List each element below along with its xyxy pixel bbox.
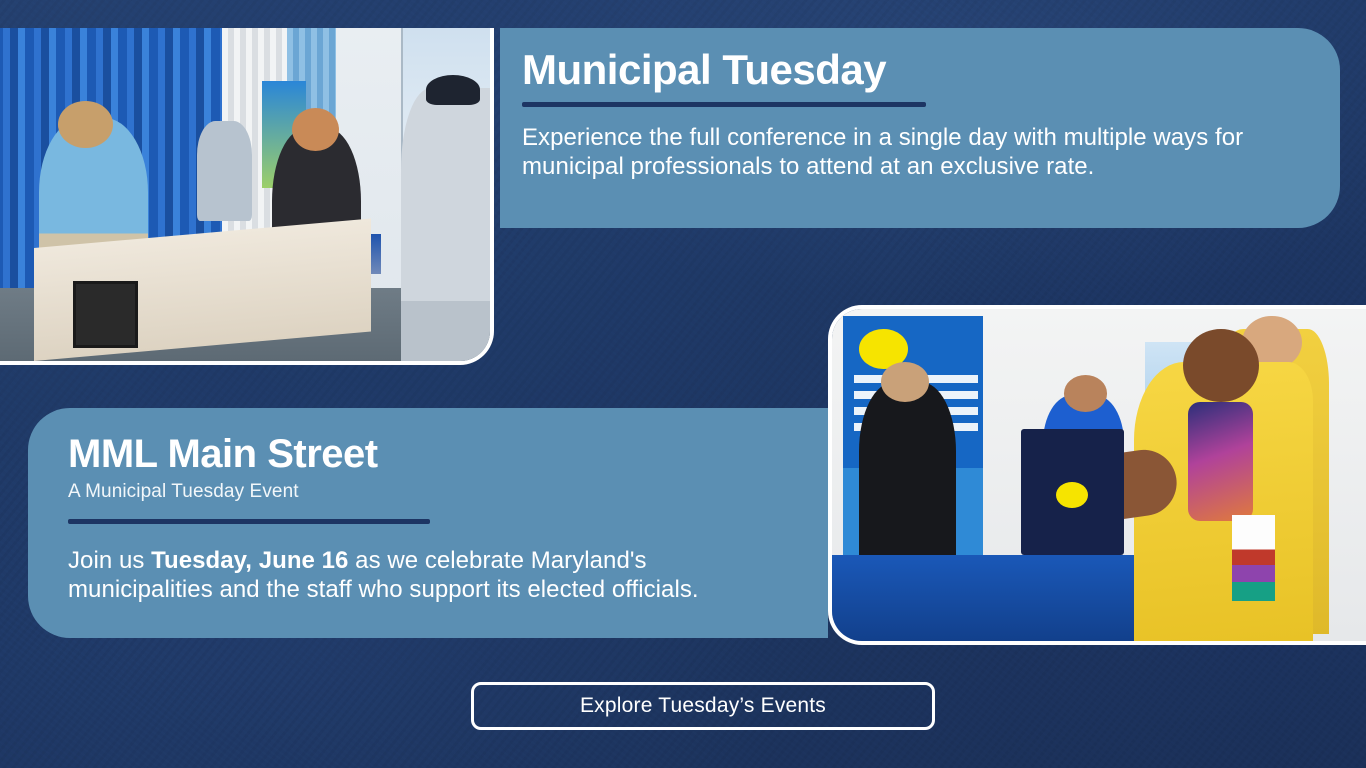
photo-exhibit-booth-left — [0, 28, 494, 365]
promo-top-body: Experience the full conference in a sing… — [522, 123, 1300, 181]
photo-right-person-left — [859, 382, 956, 575]
explore-tuesdays-events-button[interactable]: Explore Tuesday’s Events — [471, 682, 935, 730]
photo-left-person-foreground — [401, 88, 494, 361]
photo-left-person-attendee-head — [292, 108, 339, 151]
promo-bottom-body: Join us Tuesday, June 16 as we celebrate… — [68, 546, 788, 604]
photo-left-person-exhibitor-head — [58, 101, 113, 148]
promo-bottom-body-date: Tuesday, June 16 — [151, 547, 348, 574]
photo-left-baseball-cap — [426, 75, 481, 105]
promo-bottom-subtitle: A Municipal Tuesday Event — [68, 481, 788, 503]
promo-card-municipal-tuesday: Municipal Tuesday Experience the full co… — [500, 28, 1340, 228]
promo-top-title: Municipal Tuesday — [522, 46, 1300, 93]
photo-right-person-yellow-head — [1183, 329, 1259, 402]
photo-exhibit-booth-right — [828, 305, 1366, 645]
promo-card-mml-main-street: MML Main Street A Municipal Tuesday Even… — [28, 408, 828, 638]
photo-left-scene — [0, 28, 490, 361]
promo-bottom-title: MML Main Street — [68, 432, 788, 477]
photo-right-patterned-blouse — [1188, 402, 1253, 522]
photo-left-picture-frame — [73, 281, 137, 348]
promo-top-divider — [522, 102, 926, 107]
photo-right-scene — [832, 309, 1366, 641]
promo-bottom-body-prefix: Join us — [68, 547, 151, 574]
photo-right-name-badge — [1232, 515, 1275, 601]
photo-left-person-background — [197, 121, 252, 221]
photo-right-person-center-head — [1064, 375, 1107, 412]
promo-bottom-divider — [68, 519, 430, 524]
photo-right-person-left-head — [881, 362, 930, 402]
